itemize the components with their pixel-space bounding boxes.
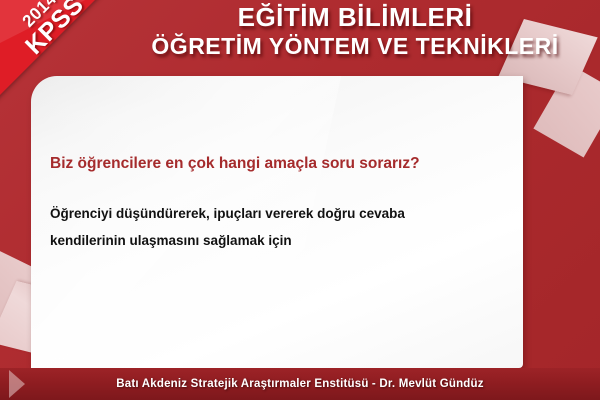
corner-ribbon-highlight bbox=[0, 0, 105, 48]
slide-footer: Batı Akdeniz Stratejik Araştırmaler Enst… bbox=[0, 368, 600, 400]
presentation-slide: 2014 KPSS EĞİTİM BİLİMLERİ ÖĞRETİM YÖNTE… bbox=[0, 0, 600, 400]
answer-line-1: Öğrenciyi düşündürerek, ipuçları vererek… bbox=[50, 200, 480, 227]
question-text: Biz öğrencilere en çok hangi amaçla soru… bbox=[50, 154, 523, 174]
footer-credit-text: Batı Akdeniz Stratejik Araştırmaler Enst… bbox=[116, 378, 483, 390]
footer-notch-icon bbox=[9, 370, 25, 398]
corner-ribbon: 2014 KPSS bbox=[0, 0, 150, 150]
answer-line-2: kendilerinin ulaşmasını sağlamak için bbox=[50, 227, 480, 254]
